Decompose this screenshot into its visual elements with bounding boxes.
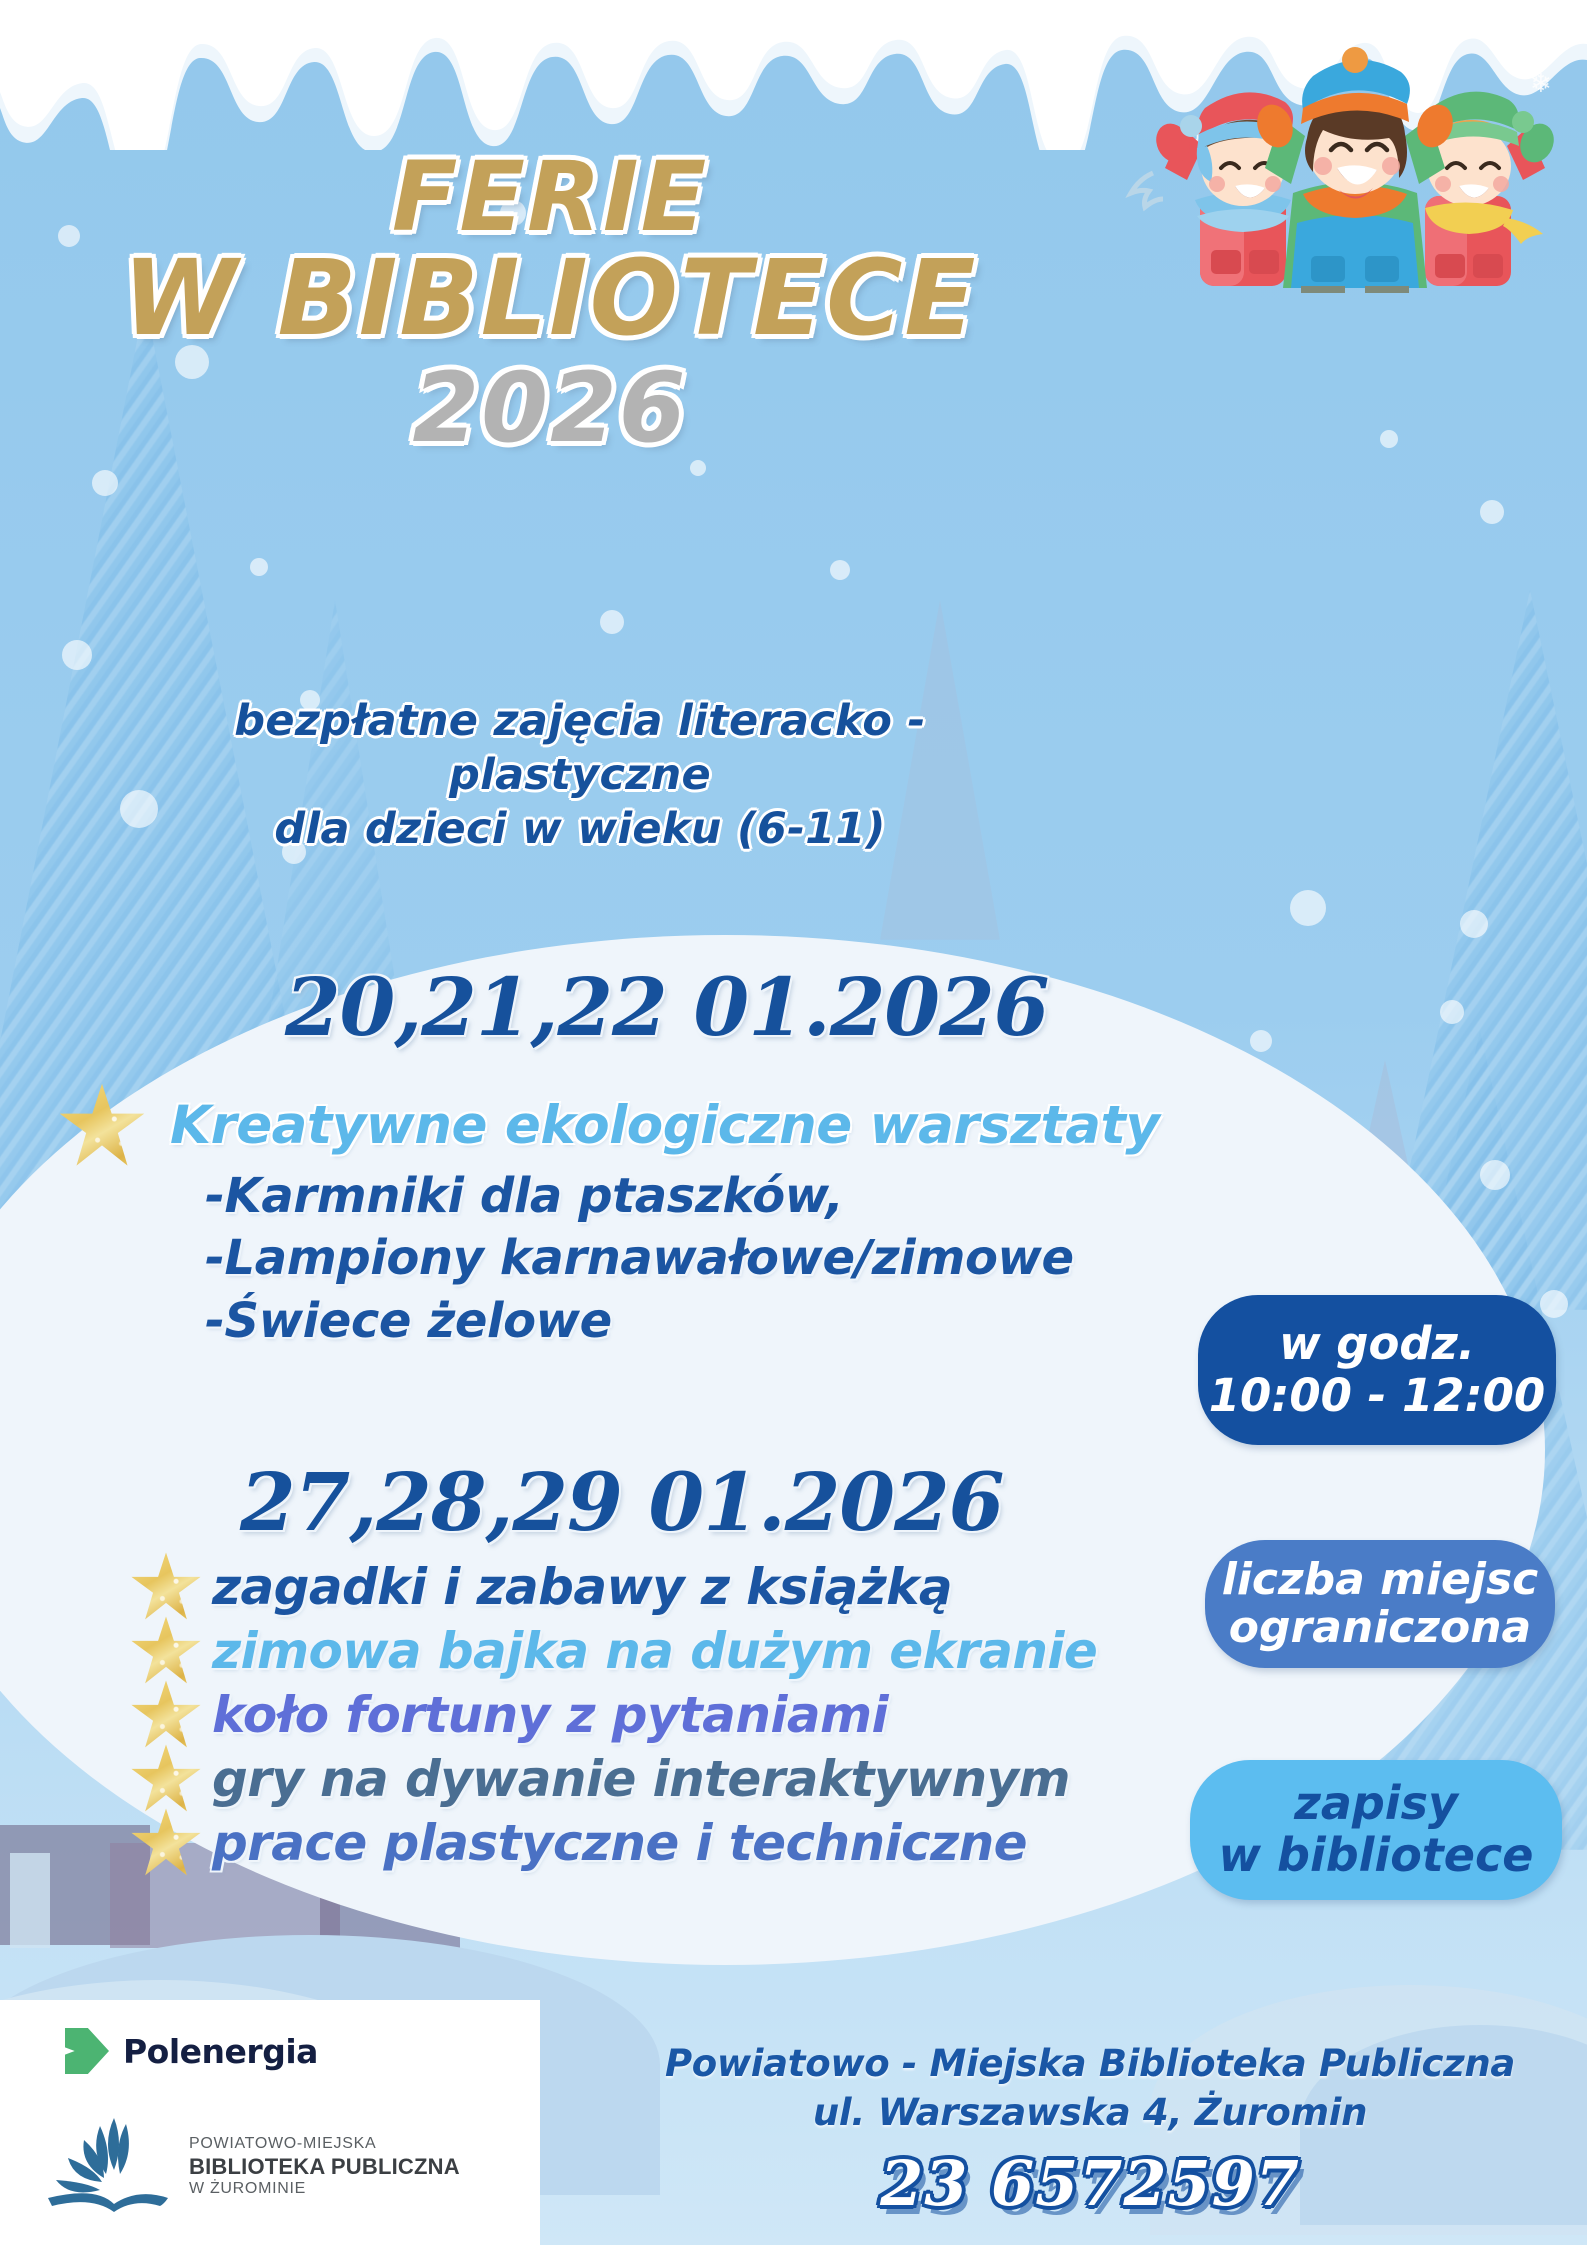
list-item: koło fortuny z pytaniami [130,1683,1180,1747]
session1-item: -Lampiony karnawałowe/zimowe [205,1227,1074,1289]
snow-dot [1460,910,1488,938]
snow-dot [1480,1160,1510,1190]
list-item: zagadki i zabawy z książką [130,1555,1180,1619]
poster-canvas: ❄ ❄ ❄ [0,0,1587,2245]
headline-block: FERIE W BIBLIOTECE 2026 [0,150,1100,464]
title-year: 2026 [0,352,1100,464]
bullet-label: zagadki i zabawy z książką [212,1558,952,1616]
list-item: prace plastyczne i techniczne [130,1811,1180,1875]
library-line-3: W ŻUROMINIE [189,2180,460,2199]
title-line-1: FERIE [0,150,1100,244]
star-icon [130,1679,202,1751]
polenergia-mark-icon [65,2028,109,2074]
open-book-icon [40,2112,175,2222]
star-icon [130,1551,202,1623]
star-icon [130,1615,202,1687]
phone-number: 23 6572597 [620,2147,1560,2220]
snow-dot [1380,430,1398,448]
hours-label: w godz. [1279,1318,1475,1370]
bullet-label: prace plastyczne i techniczne [212,1814,1027,1872]
snow-dot [830,560,850,580]
footer-logo-card: Polenergia POWIATOWO-MIEJSKA BIBLIOTEKA … [0,2000,540,2245]
star-icon [130,1743,202,1815]
session2-date: 27,28,29 01.2026 [240,1455,1003,1549]
session1-item: -Świece żelowe [205,1290,1074,1352]
house-icon [10,1853,50,1948]
signup-badge: zapisy w bibliotece [1190,1760,1562,1900]
session1-heading: Kreatywne ekologiczne warsztaty [170,1095,1159,1156]
cheering-kids-illustration [1125,18,1585,293]
session1-items: -Karmniki dla ptaszków, -Lampiony karnaw… [205,1165,1074,1352]
subtitle-block: bezpłatne zajęcia literacko - plastyczne… [150,695,1010,856]
limit-line-1: liczba miejsc [1222,1556,1539,1604]
polenergia-logo: Polenergia [65,2028,318,2074]
library-line-1: POWIATOWO-MIEJSKA [189,2135,460,2154]
bullet-label: koło fortuny z pytaniami [212,1686,888,1744]
library-logo: POWIATOWO-MIEJSKA BIBLIOTEKA PUBLICZNA W… [40,2112,460,2222]
contact-line-1: Powiatowo - Miejska Biblioteka Publiczna [620,2039,1560,2088]
contact-block: Powiatowo - Miejska Biblioteka Publiczna… [620,2039,1560,2137]
subtitle-line-2: dla dzieci w wieku (6-11) [150,803,1010,857]
subtitle-line-1: bezpłatne zajęcia literacko - plastyczne [150,695,1010,803]
snow-dot [250,558,268,576]
hours-badge: w godz. 10:00 - 12:00 [1198,1295,1556,1445]
contact-line-2: ul. Warszawska 4, Żuromin [620,2088,1560,2137]
snow-dot [1440,1000,1464,1024]
title-line-2: W BIBLIOTECE [0,248,1100,350]
snow-dot [92,470,118,496]
hours-value: 10:00 - 12:00 [1209,1370,1546,1422]
list-item: zimowa bajka na dużym ekranie [130,1619,1180,1683]
bullet-label: zimowa bajka na dużym ekranie [212,1622,1097,1680]
star-icon [130,1807,202,1879]
snow-dot [62,640,92,670]
session2-bullets: zagadki i zabawy z książką zimowa bajka … [130,1555,1180,1875]
library-name: POWIATOWO-MIEJSKA BIBLIOTEKA PUBLICZNA W… [189,2135,460,2199]
signup-line-1: zapisy [1294,1778,1458,1830]
bullet-label: gry na dywanie interaktywnym [212,1750,1070,1808]
signup-line-2: w bibliotece [1219,1830,1534,1882]
limit-line-2: ograniczona [1229,1604,1531,1652]
limited-places-badge: liczba miejsc ograniczona [1205,1540,1555,1668]
snow-dot [1250,1030,1272,1052]
session1-item: -Karmniki dla ptaszków, [205,1165,1074,1227]
polenergia-name: Polenergia [123,2032,318,2071]
snow-dot [600,610,624,634]
library-line-2: BIBLIOTEKA PUBLICZNA [189,2154,460,2180]
snow-dot [1540,1290,1568,1318]
snow-dot [1480,500,1504,524]
session1-date: 20,21,22 01.2026 [285,960,1048,1054]
snow-dot [1290,890,1326,926]
list-item: gry na dywanie interaktywnym [130,1747,1180,1811]
